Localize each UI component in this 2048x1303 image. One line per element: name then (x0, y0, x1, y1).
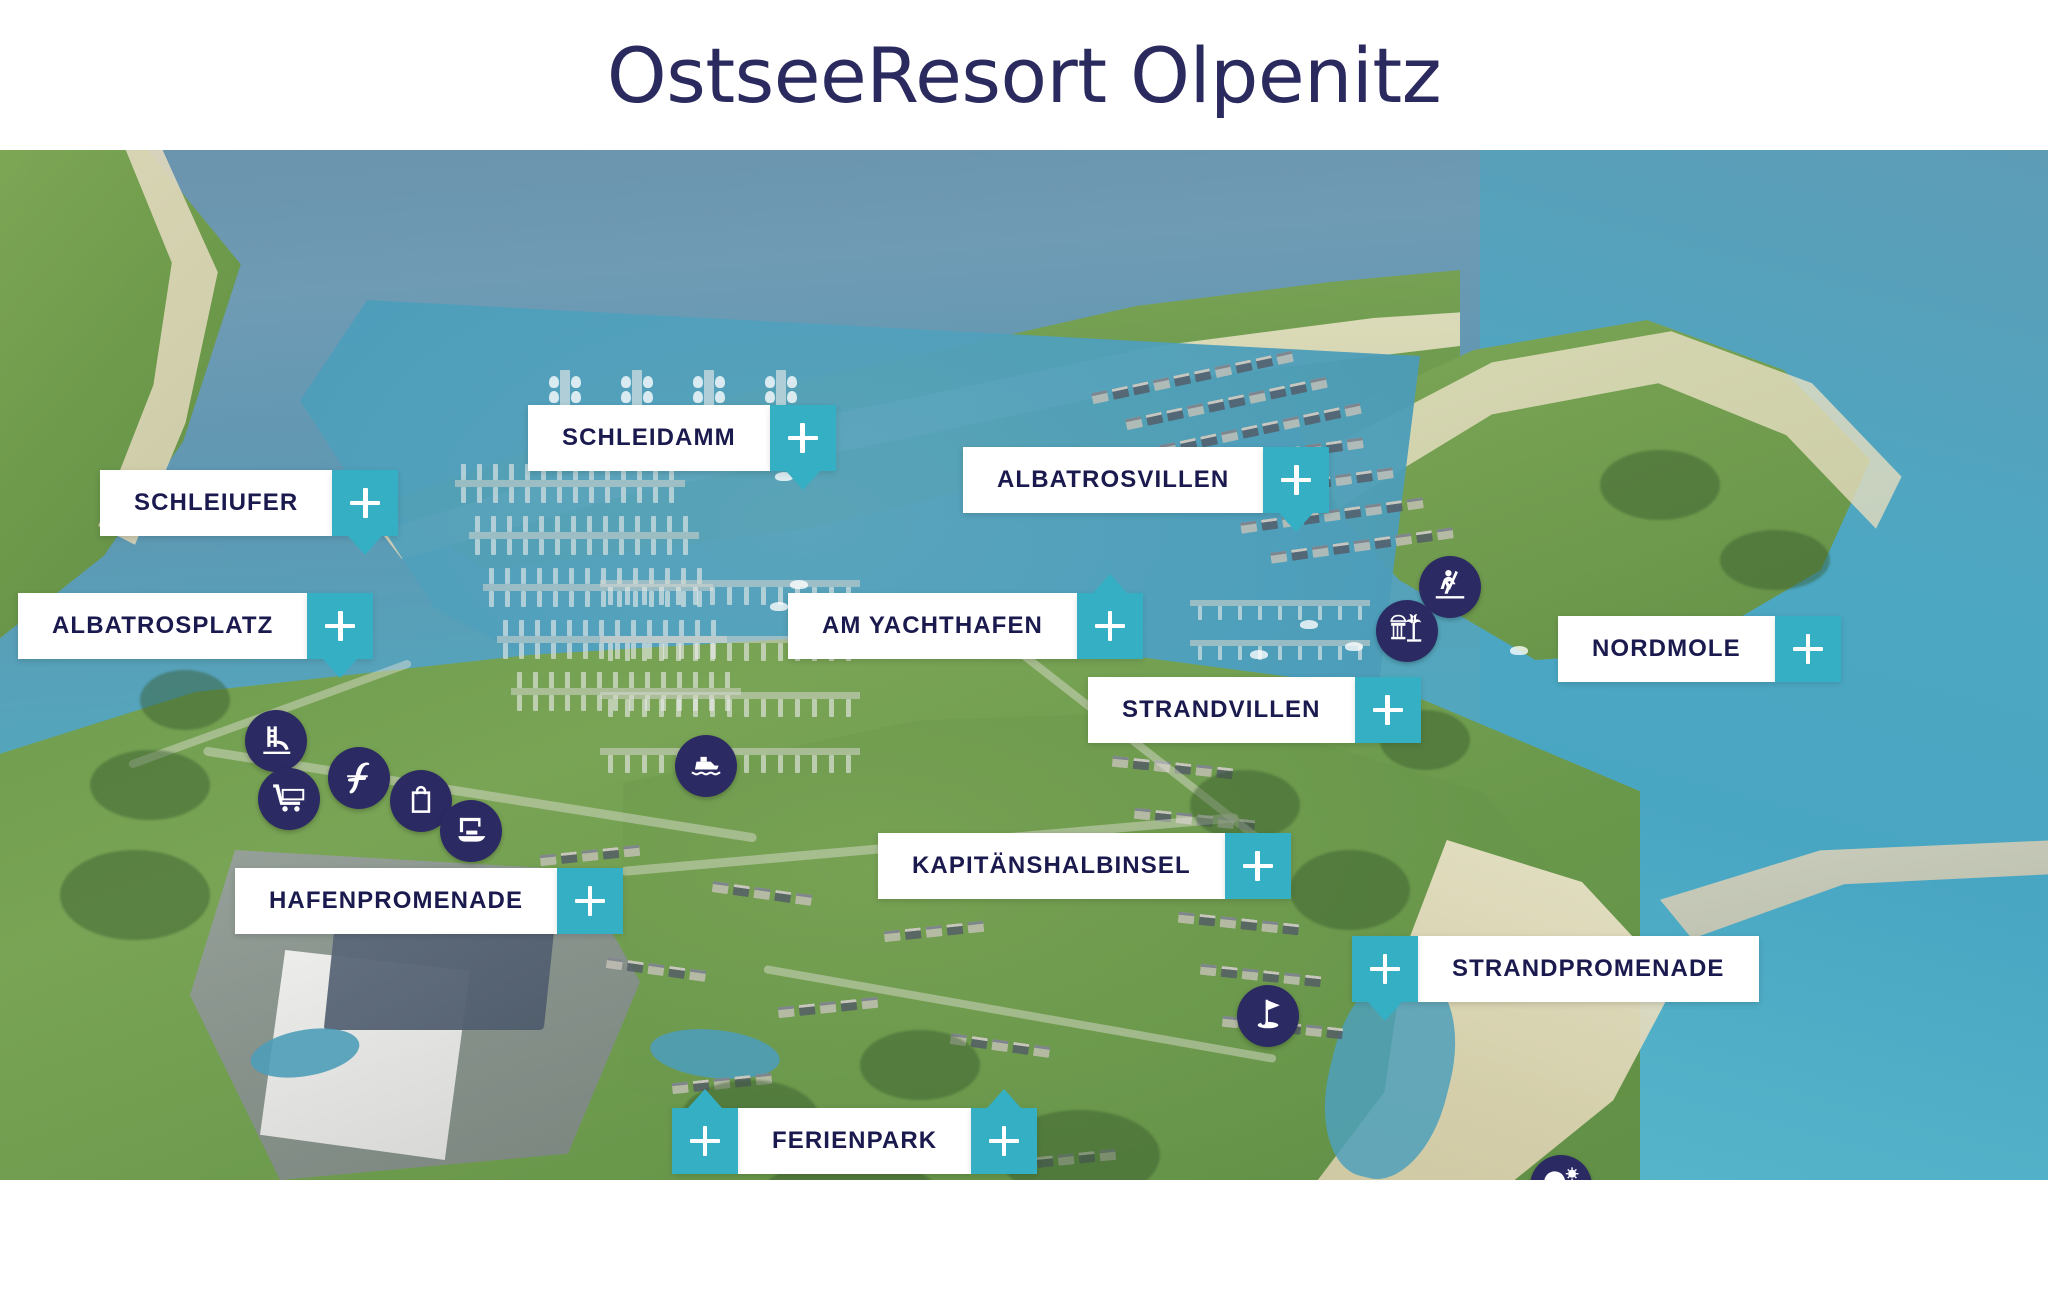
berth (681, 591, 686, 607)
house (1221, 966, 1238, 979)
pointer-tail-up (1093, 574, 1127, 593)
berth (597, 672, 602, 688)
berth (659, 587, 664, 605)
house (1270, 551, 1287, 564)
house (1304, 975, 1321, 988)
page-footer (0, 1180, 2048, 1303)
berth (1198, 646, 1202, 660)
berth (1278, 606, 1282, 620)
berth (608, 643, 613, 661)
berth (617, 591, 622, 607)
pontoon (600, 692, 860, 699)
hotspot-strandpromenade[interactable]: STRANDPROMENADE (1352, 936, 1759, 1002)
pointer-tail-down (786, 471, 820, 490)
house (602, 847, 619, 860)
berth (505, 568, 510, 584)
tree-clump (140, 670, 230, 730)
house (795, 893, 812, 906)
berth (585, 591, 590, 607)
poi-supermarket[interactable] (258, 768, 320, 830)
berth (541, 487, 546, 503)
berth (625, 643, 630, 661)
berth (625, 699, 630, 717)
hotspot-albatrosvillen[interactable]: ALBATROSVILLEN (963, 447, 1329, 513)
plus-button-albatrosplatz[interactable] (307, 593, 373, 659)
berth (631, 620, 636, 636)
berth (555, 539, 560, 555)
berth (587, 516, 592, 532)
poi-waterslide[interactable] (245, 710, 307, 772)
house (1240, 521, 1257, 534)
moored-boat (693, 391, 703, 403)
hotspot-am-yachthafen[interactable]: AM YACHTHAFEN (788, 593, 1143, 659)
pontoon (455, 480, 685, 487)
plus-button-albatrosvillen[interactable] (1263, 447, 1329, 513)
poi-brand-f[interactable] (328, 747, 390, 809)
house (840, 999, 857, 1012)
berth (491, 516, 496, 532)
hotspot-label-strandpromenade[interactable]: STRANDPROMENADE (1418, 936, 1759, 1002)
motorboat-icon (687, 745, 725, 788)
berth (587, 539, 592, 555)
berth (503, 620, 508, 636)
plus-button-hafenpromenade[interactable] (557, 868, 623, 934)
plus-button-am-yachthafen[interactable] (1077, 593, 1143, 659)
moored-boat (715, 376, 725, 388)
sailboat (1510, 646, 1528, 655)
berth (517, 672, 522, 688)
house (905, 927, 922, 940)
berth (744, 643, 749, 661)
berth (659, 643, 664, 661)
house (1346, 437, 1363, 450)
berth (778, 643, 783, 661)
house (668, 966, 685, 979)
plus-button-nordmole[interactable] (1775, 616, 1841, 682)
house (1312, 545, 1329, 558)
berth (676, 643, 681, 661)
hotspot-label-albatrosvillen[interactable]: ALBATROSVILLEN (963, 447, 1263, 513)
berth (571, 539, 576, 555)
berth (642, 643, 647, 661)
sailboat (1300, 620, 1318, 629)
berth (642, 699, 647, 717)
berth (693, 699, 698, 717)
berth (509, 487, 514, 503)
house (1344, 506, 1361, 519)
berth (725, 672, 730, 688)
house (606, 957, 623, 970)
house (819, 1001, 836, 1014)
berth (539, 539, 544, 555)
berth (778, 755, 783, 773)
house (1386, 500, 1403, 513)
house (1283, 972, 1300, 985)
berth (744, 587, 749, 605)
house (1199, 914, 1216, 927)
berth (477, 464, 482, 480)
hotspot-label-nordmole[interactable]: NORDMOLE (1558, 616, 1775, 682)
berth (521, 591, 526, 607)
plus-button-ferienpark-left[interactable] (672, 1108, 738, 1174)
berth (693, 587, 698, 605)
berth (599, 643, 604, 659)
berth (567, 620, 572, 636)
moored-boat (571, 376, 581, 388)
sailboat (1345, 642, 1363, 651)
plus-button-schleidamm[interactable] (770, 405, 836, 471)
house (1365, 503, 1382, 516)
tree-clump (1190, 770, 1300, 840)
hotspot-schleidamm[interactable]: SCHLEIDAMM (528, 405, 836, 471)
house (1282, 923, 1299, 936)
hotspot-label-hafenpromenade[interactable]: HAFENPROMENADE (235, 868, 557, 934)
berth (1318, 646, 1322, 660)
house (1134, 808, 1151, 821)
pointer-tail-up (987, 1089, 1021, 1108)
hotspot-ferienpark[interactable]: FERIENPARK (672, 1108, 1037, 1174)
berth (625, 755, 630, 773)
berth (489, 568, 494, 584)
berth (533, 672, 538, 688)
hotspot-kapitaenshalbinsel[interactable]: KAPITÄNSHALBINSEL (878, 833, 1291, 899)
house (1356, 470, 1373, 483)
poi-golf[interactable] (1237, 985, 1299, 1047)
berth (565, 695, 570, 711)
tree-clump (90, 750, 210, 820)
berth (631, 643, 636, 659)
berth (667, 539, 672, 555)
berth (583, 620, 588, 636)
berth (605, 487, 610, 503)
berth (829, 755, 834, 773)
tree-clump (60, 850, 210, 940)
berth (619, 516, 624, 532)
berth (517, 695, 522, 711)
berth (679, 620, 684, 636)
berth (676, 587, 681, 605)
moored-boat (643, 376, 653, 388)
hotspot-label-ferienpark[interactable]: FERIENPARK (738, 1108, 971, 1174)
berth (569, 568, 574, 584)
berth (537, 568, 542, 584)
berth (647, 620, 652, 636)
plus-button-kapitaenshalbinsel[interactable] (1225, 833, 1291, 899)
house (1416, 530, 1433, 543)
house (627, 960, 644, 973)
pointer-tail-up (688, 1089, 722, 1108)
berth (711, 620, 716, 636)
house (581, 849, 598, 862)
berth (571, 516, 576, 532)
berth (653, 487, 658, 503)
house (753, 887, 770, 900)
house (799, 1003, 816, 1016)
hotspot-label-schleiufer[interactable]: SCHLEIUFER (100, 470, 332, 536)
berth (625, 587, 630, 605)
berth (519, 620, 524, 636)
hotspot-schleiufer[interactable]: SCHLEIUFER (100, 470, 398, 536)
poi-waterpark[interactable] (1376, 600, 1438, 662)
berth (505, 591, 510, 607)
poi-marina-boat[interactable] (675, 735, 737, 797)
berth (1318, 606, 1322, 620)
berth (676, 699, 681, 717)
berth (727, 587, 732, 605)
berth (565, 672, 570, 688)
berth (647, 643, 652, 659)
berth (613, 672, 618, 688)
beach-resort-icon (1388, 610, 1426, 653)
berth (709, 672, 714, 688)
berth (549, 672, 554, 688)
moored-boat (765, 391, 775, 403)
hotspot-albatrosplatz[interactable]: ALBATROSPLATZ (18, 593, 373, 659)
berth (503, 643, 508, 659)
moored-boat (693, 376, 703, 388)
hotspot-hafenpromenade[interactable]: HAFENPROMENADE (235, 868, 623, 934)
berth (744, 699, 749, 717)
berth (761, 643, 766, 661)
berth (603, 539, 608, 555)
berth (795, 699, 800, 717)
house (1242, 968, 1259, 981)
berth (642, 755, 647, 773)
berth (491, 539, 496, 555)
berth (507, 539, 512, 555)
berth (603, 516, 608, 532)
house (733, 884, 750, 897)
house (971, 1036, 988, 1049)
house (1333, 542, 1350, 555)
berth (727, 699, 732, 717)
berth (569, 591, 574, 607)
sailboat (770, 602, 788, 611)
house (774, 890, 791, 903)
berth (661, 672, 666, 688)
moored-boat (787, 391, 797, 403)
berth (608, 587, 613, 605)
house (967, 921, 984, 934)
berth (539, 516, 544, 532)
berth (645, 672, 650, 688)
sailboat (790, 580, 808, 589)
house (540, 854, 557, 867)
berth (642, 587, 647, 605)
tree-clump (860, 1030, 980, 1100)
house (1326, 1027, 1343, 1040)
berth (461, 464, 466, 480)
berth (761, 699, 766, 717)
berth (601, 591, 606, 607)
berth (761, 587, 766, 605)
house (1406, 497, 1423, 510)
berth (669, 487, 674, 503)
tree-clump (1720, 530, 1830, 590)
berth (553, 591, 558, 607)
berth (683, 539, 688, 555)
house (1195, 764, 1212, 777)
berth (1338, 646, 1342, 660)
house (991, 1039, 1008, 1052)
house (1376, 467, 1393, 480)
house (1335, 473, 1352, 486)
berth (523, 539, 528, 555)
berth (710, 587, 715, 605)
berth (727, 643, 732, 661)
house (1220, 916, 1237, 929)
berth (608, 755, 613, 773)
house (1261, 920, 1278, 933)
tree-clump (1290, 850, 1410, 930)
berth (846, 755, 851, 773)
poi-boatyard[interactable] (440, 800, 502, 862)
hotspot-strandvillen[interactable]: STRANDVILLEN (1088, 677, 1421, 743)
berth (795, 755, 800, 773)
shopping-cart-icon (270, 778, 308, 821)
moored-boat (621, 376, 631, 388)
plus-button-ferienpark-right[interactable] (971, 1108, 1037, 1174)
house (712, 881, 729, 894)
hotspot-label-albatrosplatz[interactable]: ALBATROSPLATZ (18, 593, 307, 659)
plus-button-schleiufer[interactable] (332, 470, 398, 536)
pointer-tail-down (323, 659, 357, 678)
hotspot-label-am-yachthafen[interactable]: AM YACHTHAFEN (788, 593, 1077, 659)
resort-map[interactable]: SCHLEIDAMMSCHLEIUFERALBATROSVILLENALBATR… (0, 150, 2048, 1180)
plus-button-strandpromenade[interactable] (1352, 936, 1418, 1002)
shopping-bag-icon (402, 780, 440, 823)
house (1033, 1045, 1050, 1058)
berth (523, 516, 528, 532)
berth (573, 487, 578, 503)
berth (665, 591, 670, 607)
berth (507, 516, 512, 532)
moored-boat (571, 391, 581, 403)
sailboat (1250, 650, 1268, 659)
berth (599, 620, 604, 636)
beach-umbrella-icon (1542, 1165, 1580, 1181)
berth (1298, 606, 1302, 620)
berth (761, 755, 766, 773)
house (1436, 527, 1453, 540)
water-slide-icon (257, 720, 295, 763)
berth (535, 643, 540, 659)
berth (1258, 606, 1262, 620)
berth (812, 699, 817, 717)
berth (829, 699, 834, 717)
hotspot-label-kapitaenshalbinsel[interactable]: KAPITÄNSHALBINSEL (878, 833, 1225, 899)
berth (744, 755, 749, 773)
moored-boat (643, 391, 653, 403)
moored-boat (765, 376, 775, 388)
house (1178, 912, 1195, 925)
moored-boat (787, 376, 797, 388)
berth (677, 672, 682, 688)
berth (475, 516, 480, 532)
house (861, 997, 878, 1010)
berth (1278, 646, 1282, 660)
berth (846, 699, 851, 717)
berth (695, 620, 700, 636)
hotspot-label-schleidamm[interactable]: SCHLEIDAMM (528, 405, 770, 471)
berth (551, 643, 556, 659)
berth (493, 487, 498, 503)
berth (615, 620, 620, 636)
berth (521, 568, 526, 584)
berth (519, 643, 524, 659)
berth (663, 620, 668, 636)
pointer-tail-down (348, 536, 382, 555)
pointer-tail-down (1279, 513, 1313, 532)
berth (461, 487, 466, 503)
house (925, 925, 942, 938)
pontoon (600, 580, 860, 587)
berth (693, 672, 698, 688)
berth (1218, 606, 1222, 620)
berth (659, 699, 664, 717)
plus-button-strandvillen[interactable] (1355, 677, 1421, 743)
berth (535, 620, 540, 636)
hotspot-label-strandvillen[interactable]: STRANDVILLEN (1088, 677, 1355, 743)
f-monogram-icon (340, 757, 378, 800)
berth (493, 464, 498, 480)
berth (659, 755, 664, 773)
page-title: OstseeResort Olpenitz (607, 31, 1441, 120)
berth (812, 755, 817, 773)
berth (557, 487, 562, 503)
berth (549, 695, 554, 711)
berth (710, 699, 715, 717)
berth (667, 516, 672, 532)
berth (581, 695, 586, 711)
house (672, 1082, 689, 1095)
moored-boat (621, 391, 631, 403)
hotspot-nordmole[interactable]: NORDMOLE (1558, 616, 1841, 682)
house (884, 930, 901, 943)
berth (619, 539, 624, 555)
berth (778, 699, 783, 717)
house (1261, 518, 1278, 531)
house (1305, 1024, 1322, 1037)
berth (683, 516, 688, 532)
berth (1218, 646, 1222, 660)
moored-boat (549, 376, 559, 388)
berth (537, 591, 542, 607)
resort-map-page: OstseeResort Olpenitz SCHLEIDAMMSCHLEIUF… (0, 0, 2048, 1303)
berth (581, 672, 586, 688)
berth (633, 591, 638, 607)
pontoon (469, 532, 699, 539)
berth (635, 516, 640, 532)
house (647, 963, 664, 976)
house (778, 1006, 795, 1019)
house (1200, 964, 1217, 977)
berth (589, 487, 594, 503)
house (561, 851, 578, 864)
berth (551, 620, 556, 636)
pointer-tail-down (1368, 1002, 1402, 1021)
berth (651, 539, 656, 555)
berth (567, 643, 572, 659)
berth (629, 672, 634, 688)
moored-boat (715, 391, 725, 403)
berth (651, 516, 656, 532)
berth (1238, 606, 1242, 620)
house (1240, 918, 1257, 931)
boat-crane-icon (452, 810, 490, 853)
house (689, 969, 706, 982)
house (1291, 548, 1308, 561)
